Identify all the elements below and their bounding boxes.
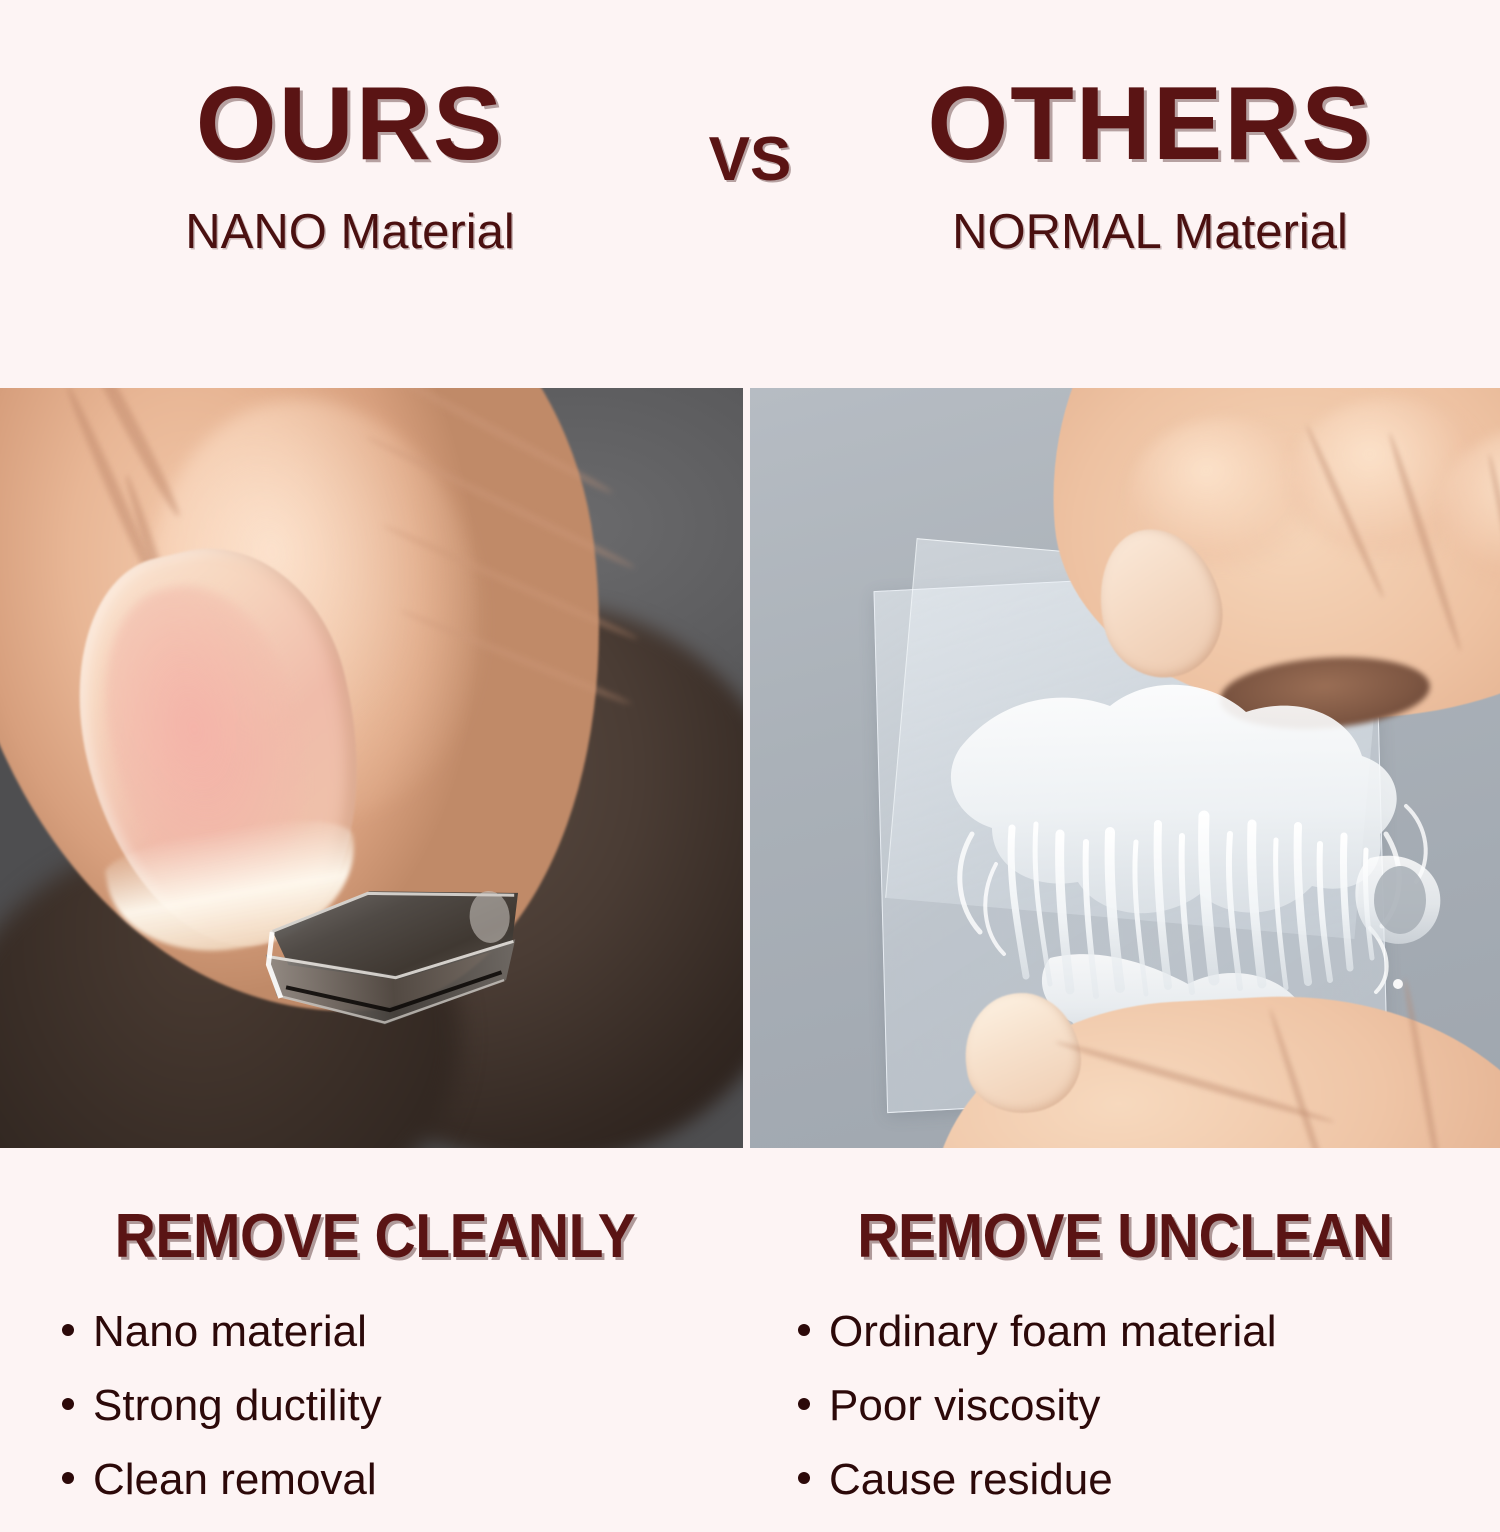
- comparison-header: OURS NANO Material VS OTHERS NORMAL Mate…: [0, 0, 1500, 388]
- comparison-bottom: REMOVE CLEANLY Nano material Strong duct…: [0, 1148, 1500, 1500]
- bullet-icon: [62, 1398, 74, 1410]
- header-right-group: OTHERS NORMAL Material: [800, 72, 1500, 257]
- bullet-icon: [62, 1324, 74, 1336]
- others-detail-column: REMOVE UNCLEAN Ordinary foam material Po…: [750, 1148, 1500, 1532]
- header-left-group: OURS NANO Material: [0, 72, 700, 257]
- list-item-label: Strong ductility: [93, 1384, 382, 1428]
- others-subtitle: NORMAL Material: [800, 208, 1500, 257]
- list-item: Cause residue: [798, 1458, 1500, 1502]
- list-item: Clean removal: [62, 1458, 750, 1502]
- ours-title: OURS: [0, 72, 700, 176]
- ours-subtitle: NANO Material: [0, 208, 700, 257]
- bullet-icon: [62, 1472, 74, 1484]
- others-title: OTHERS: [800, 72, 1500, 176]
- bullet-icon: [798, 1472, 810, 1484]
- comparison-photo-row: [0, 388, 1500, 1148]
- vs-label: VS: [695, 124, 805, 195]
- list-item-label: Cause residue: [829, 1458, 1113, 1502]
- list-item: Ordinary foam material: [798, 1310, 1500, 1354]
- others-photo: [750, 388, 1500, 1148]
- list-item-label: Clean removal: [93, 1458, 377, 1502]
- list-item-label: Nano material: [93, 1310, 367, 1354]
- ours-feature-list: Nano material Strong ductility Clean rem…: [0, 1310, 750, 1502]
- list-item: Nano material: [62, 1310, 750, 1354]
- ours-detail-column: REMOVE CLEANLY Nano material Strong duct…: [0, 1148, 750, 1532]
- others-result-heading: REMOVE UNCLEAN: [780, 1206, 1470, 1268]
- ours-result-heading: REMOVE CLEANLY: [30, 1206, 720, 1268]
- left-photo-nano-pad: [249, 873, 560, 1064]
- list-item-label: Poor viscosity: [829, 1384, 1100, 1428]
- list-item-label: Ordinary foam material: [829, 1310, 1276, 1354]
- others-feature-list: Ordinary foam material Poor viscosity Ca…: [750, 1310, 1500, 1502]
- ours-photo: [0, 388, 743, 1148]
- bullet-icon: [798, 1398, 810, 1410]
- bullet-icon: [798, 1324, 810, 1336]
- list-item: Strong ductility: [62, 1384, 750, 1428]
- list-item: Poor viscosity: [798, 1384, 1500, 1428]
